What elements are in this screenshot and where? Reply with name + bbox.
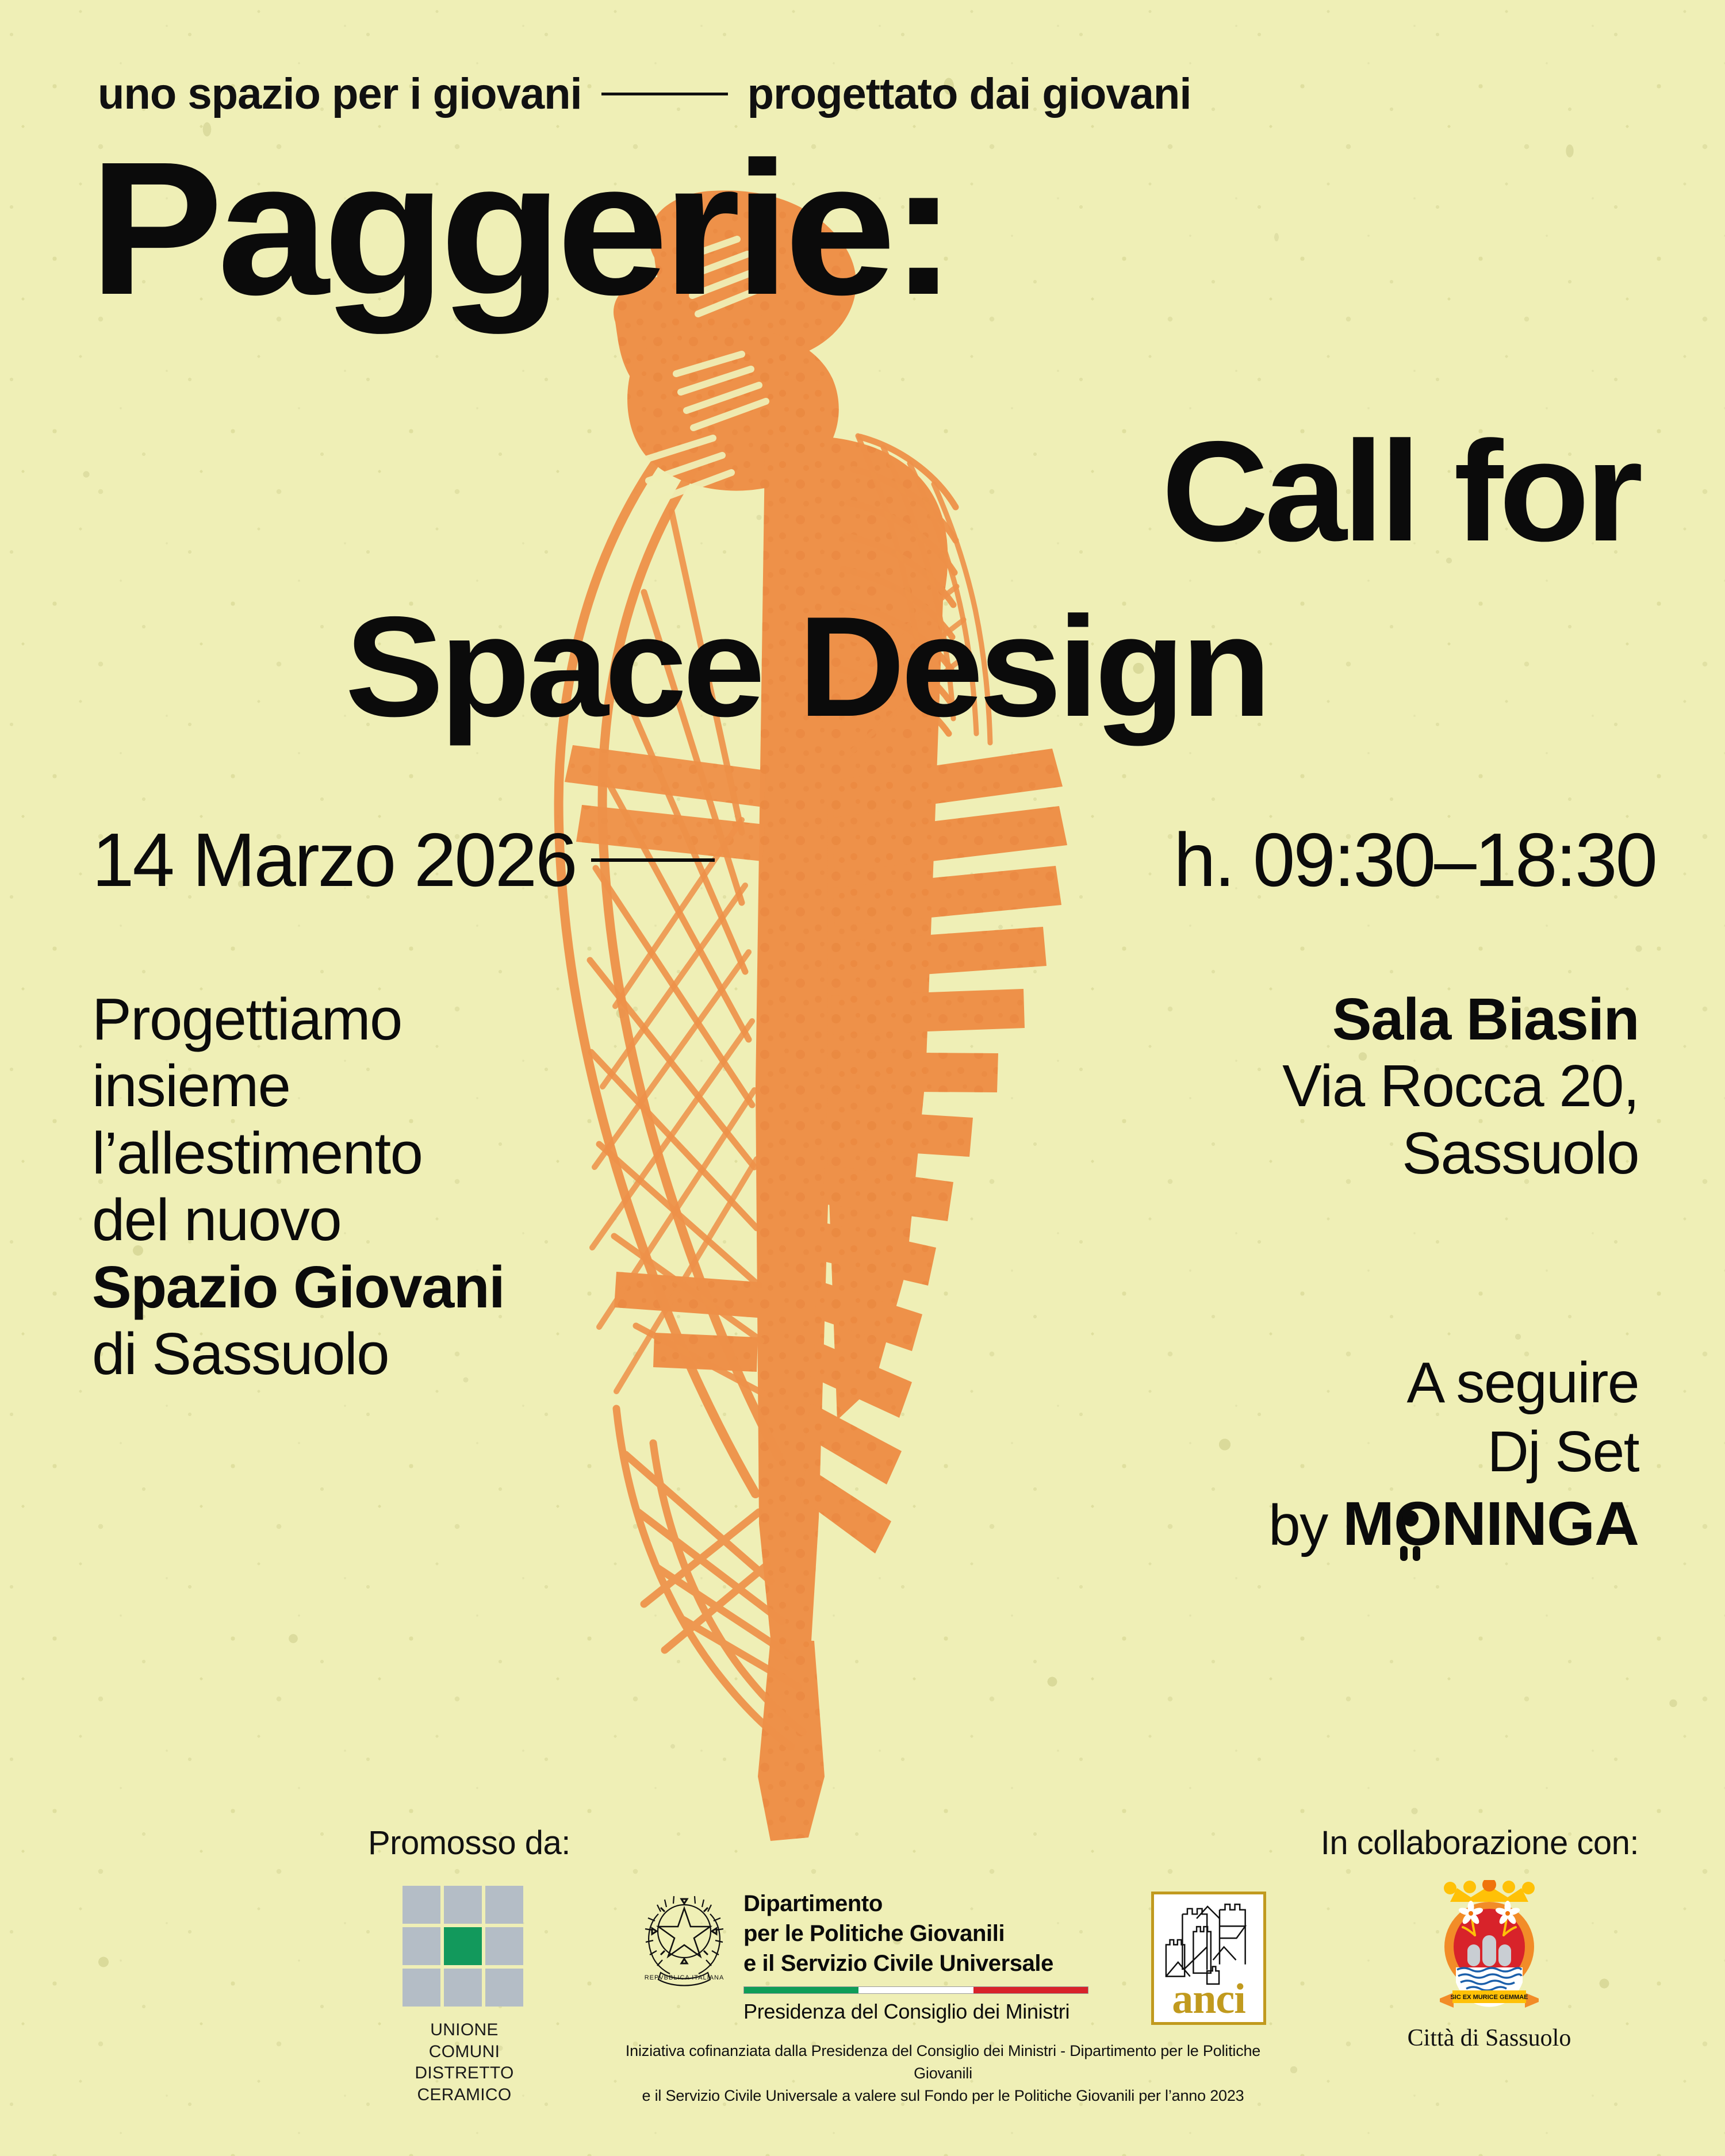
- moninga-o-mark: [1396, 1495, 1445, 1559]
- anci-towers-icon: [1154, 1894, 1263, 1986]
- description-highlight: Spazio Giovani: [92, 1254, 667, 1321]
- event-date: 14 Marzo 2026: [92, 816, 576, 903]
- description-line-6: di Sassuolo: [92, 1321, 667, 1387]
- promoted-by-label: Promosso da:: [368, 1824, 570, 1862]
- fineprint-line-1: Iniziativa cofinanziata dalla Presidenza…: [604, 2040, 1282, 2085]
- moninga-logotype: MONINGA: [1343, 1486, 1639, 1561]
- footer: Promosso da: In collaborazione con: UNIO…: [0, 1817, 1725, 2156]
- afterparty-by-label: by: [1268, 1493, 1328, 1557]
- dipartimento-line-3: e il Servizio Civile Universale: [743, 1948, 1088, 1978]
- afterparty-line-1: A seguire: [977, 1348, 1639, 1417]
- dipartimento-line-2: per le Politiche Giovanili: [743, 1919, 1088, 1948]
- page-title-line-1: Paggerie:: [89, 147, 951, 310]
- tagline: uno spazio per i giovani progettato dai …: [98, 69, 1650, 119]
- sassuolo-crest-logo: SIC EX MURICE GEMMAE Città di Sassuolo: [1403, 1880, 1575, 2052]
- venue-block: Sala Biasin Via Rocca 20, Sassuolo: [1006, 986, 1639, 1187]
- tagline-divider-rule: [601, 93, 728, 95]
- venue-address: Via Rocca 20,: [1006, 1053, 1639, 1119]
- unione-comuni-logo: UNIONE COMUNI DISTRETTO CERAMICO: [402, 1886, 526, 2105]
- poster-text-layer: uno spazio per i giovani progettato dai …: [0, 0, 1725, 2156]
- funding-fineprint: Iniziativa cofinanziata dalla Presidenza…: [604, 2040, 1282, 2107]
- dateline-divider-rule: [591, 858, 715, 862]
- tagline-left: uno spazio per i giovani: [98, 69, 582, 119]
- unione-comuni-green-tile: [444, 1927, 482, 1965]
- description-line-2: insieme: [92, 1053, 667, 1119]
- page-title-line-3: Space Design: [345, 601, 1267, 732]
- page-title-line-2: Call for: [1161, 425, 1639, 557]
- tagline-right: progettato dai giovani: [747, 69, 1191, 119]
- dipartimento-line-1: Dipartimento: [743, 1889, 1088, 1919]
- italian-tricolor-bar-icon: [743, 1986, 1088, 1994]
- description-line-4: del nuovo: [92, 1187, 667, 1253]
- dipartimento-logo: REPVBBLICA ITALIANA Dipartimento per le …: [641, 1889, 1088, 2024]
- description-line-1: Progettiamo: [92, 986, 667, 1053]
- unione-comuni-wordmark: UNIONE COMUNI DISTRETTO CERAMICO: [402, 2019, 526, 2105]
- unione-comuni-line-1: UNIONE COMUNI: [402, 2019, 526, 2062]
- afterparty-block: A seguire Dj Set by MONINGA: [977, 1348, 1639, 1561]
- event-time: h. 09:30–18:30: [1174, 816, 1656, 903]
- description-line-3: l’allestimento: [92, 1120, 667, 1187]
- afterparty-line-2: Dj Set: [977, 1417, 1639, 1486]
- poster-canvas: uno spazio per i giovani progettato dai …: [0, 0, 1725, 2156]
- sassuolo-coat-of-arms-icon: SIC EX MURICE GEMMAE: [1420, 1880, 1558, 2018]
- afterparty-artist-line: by MONINGA: [977, 1486, 1639, 1561]
- collaboration-label: In collaborazione con:: [1321, 1824, 1639, 1862]
- unione-comuni-grid-icon: [402, 1886, 526, 2007]
- italian-republic-emblem-icon: REPVBBLICA ITALIANA: [641, 1889, 727, 1995]
- svg-text:REPVBBLICA ITALIANA: REPVBBLICA ITALIANA: [645, 1974, 724, 1981]
- anci-logo: anci: [1151, 1892, 1266, 2025]
- sassuolo-name: Città di Sassuolo: [1403, 2024, 1575, 2052]
- dipartimento-subtitle: Presidenza del Consiglio dei Ministri: [743, 2000, 1088, 2024]
- event-dateline: 14 Marzo 2026 h. 09:30–18:30: [92, 816, 1656, 903]
- event-description: Progettiamo insieme l’allestimento del n…: [92, 986, 667, 1387]
- anci-wordmark: anci: [1154, 1979, 1263, 2019]
- fineprint-line-2: e il Servizio Civile Universale a valere…: [604, 2085, 1282, 2107]
- venue-city: Sassuolo: [1006, 1120, 1639, 1187]
- moninga-wordmark: MONINGA: [1343, 1489, 1639, 1558]
- dipartimento-text-block: Dipartimento per le Politiche Giovanili …: [743, 1889, 1088, 2024]
- venue-name: Sala Biasin: [1006, 986, 1639, 1053]
- sassuolo-motto: SIC EX MURICE GEMMAE: [1450, 1994, 1528, 2001]
- unione-comuni-line-2: DISTRETTO CERAMICO: [402, 2062, 526, 2105]
